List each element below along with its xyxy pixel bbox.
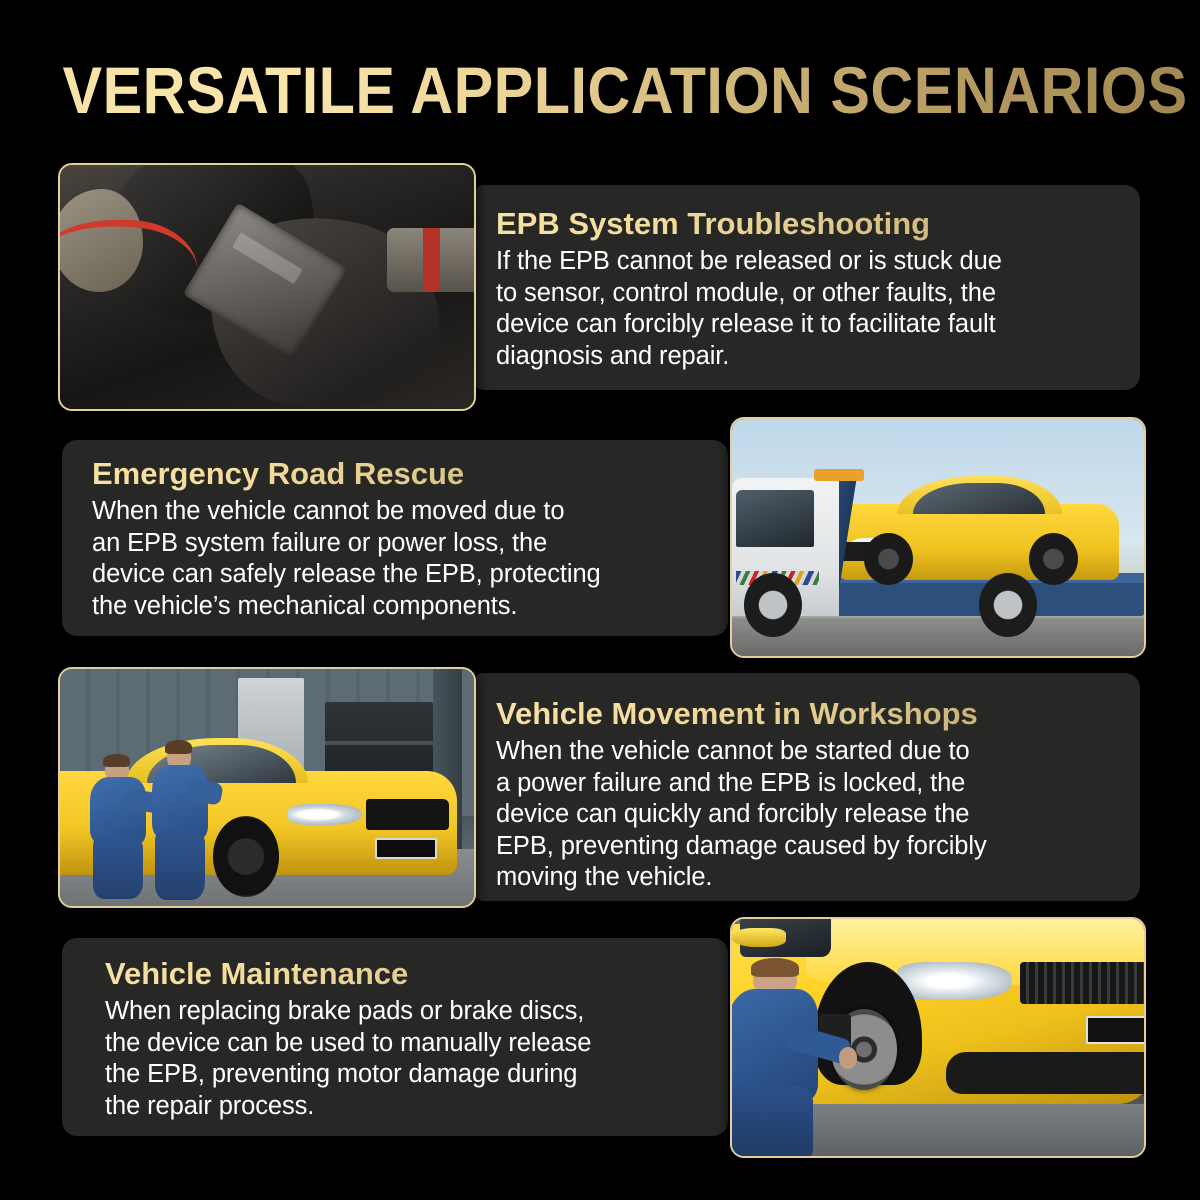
workshop-push-photo [60, 669, 474, 906]
truck-wheel-shape [979, 573, 1037, 637]
card-2-body-line: device can safely release the EPB, prote… [92, 559, 722, 591]
legs-shape [93, 837, 143, 900]
hair-shape [165, 740, 191, 754]
beacon-light-shape [814, 469, 863, 481]
epb-connector-photo [60, 165, 474, 409]
card-1-body-line: If the EPB cannot be released or is stuc… [496, 246, 1126, 278]
torso-shape [152, 765, 208, 840]
card-1-body-line: diagnosis and repair. [496, 341, 1126, 373]
tool-shape [387, 228, 474, 291]
truck-window-shape [736, 490, 814, 547]
card-1-body-line: to sensor, control module, or other faul… [496, 278, 1126, 310]
card-1-body-line: device can forcibly release it to facili… [496, 309, 1126, 341]
legs-shape [732, 1086, 813, 1156]
card-3-heading: Vehicle Movement in Workshops [496, 695, 1136, 733]
card-4-body-line: the EPB, preventing motor damage during [105, 1059, 735, 1091]
card-4-body-line: When replacing brake pads or brake discs… [105, 996, 735, 1028]
car-wheel-shape [864, 533, 913, 585]
card-4-body-line: the device can be used to manually relea… [105, 1028, 735, 1060]
card-3-image [58, 667, 476, 908]
hair-shape [103, 754, 129, 767]
card-1-body: If the EPB cannot be released or is stuc… [496, 246, 1126, 372]
truck-wheel-shape [744, 573, 802, 637]
mechanic-figure [147, 740, 213, 896]
car-wheel-shape [1029, 533, 1078, 585]
mechanic-figure [85, 754, 151, 896]
card-2-body-line: When the vehicle cannot be moved due to [92, 496, 722, 528]
car-headlight-shape [288, 804, 363, 825]
tow-truck-photo [732, 419, 1144, 656]
legs-shape [155, 831, 205, 900]
car-plate-shape [1086, 1016, 1144, 1044]
card-4-image [730, 917, 1146, 1158]
page-title: VERSATILE APPLICATION SCENARIOS [63, 52, 1188, 128]
card-1-text-block: EPB System Troubleshooting If the EPB ca… [496, 205, 1126, 372]
card-4-heading: Vehicle Maintenance [105, 955, 735, 993]
hair-shape [751, 958, 799, 977]
car-plate-shape [375, 838, 437, 859]
brake-service-photo [732, 919, 1144, 1156]
card-2-image [730, 417, 1146, 658]
car-grille-shape [366, 799, 449, 830]
card-4-body-line: the repair process. [105, 1091, 735, 1123]
card-2-text-block: Emergency Road Rescue When the vehicle c… [92, 455, 722, 622]
card-3-body-line: device can quickly and forcibly release … [496, 799, 1136, 831]
card-3-body-line: When the vehicle cannot be started due t… [496, 736, 1136, 768]
card-3-body: When the vehicle cannot be started due t… [496, 736, 1136, 894]
card-2-body-line: the vehicle’s mechanical components. [92, 591, 722, 623]
torso-shape [90, 777, 146, 845]
car-mirror-shape [732, 928, 786, 947]
mechanic-figure [732, 962, 843, 1156]
card-4-body: When replacing brake pads or brake discs… [105, 996, 735, 1122]
truck-bed-shape [790, 580, 1144, 616]
card-3-text-block: Vehicle Movement in Workshops When the v… [496, 695, 1136, 894]
page-title-container: VERSATILE APPLICATION SCENARIOS [0, 52, 1200, 128]
car-bumper-shape [946, 1052, 1144, 1095]
car-wheel-shape [213, 816, 279, 897]
car-grille-shape [1020, 962, 1144, 1005]
card-1-image [58, 163, 476, 411]
hand-shape [839, 1047, 857, 1068]
car-headlight-shape [897, 962, 1012, 1000]
card-4-text-block: Vehicle Maintenance When replacing brake… [105, 955, 735, 1122]
card-2-body: When the vehicle cannot be moved due to … [92, 496, 722, 622]
card-2-body-line: an EPB system failure or power loss, the [92, 528, 722, 560]
card-3-body-line: moving the vehicle. [496, 862, 1136, 894]
card-3-body-line: a power failure and the EPB is locked, t… [496, 768, 1136, 800]
card-2-heading: Emergency Road Rescue [92, 455, 722, 493]
card-1-heading: EPB System Troubleshooting [496, 205, 1126, 243]
card-3-body-line: EPB, preventing damage caused by forcibl… [496, 831, 1136, 863]
